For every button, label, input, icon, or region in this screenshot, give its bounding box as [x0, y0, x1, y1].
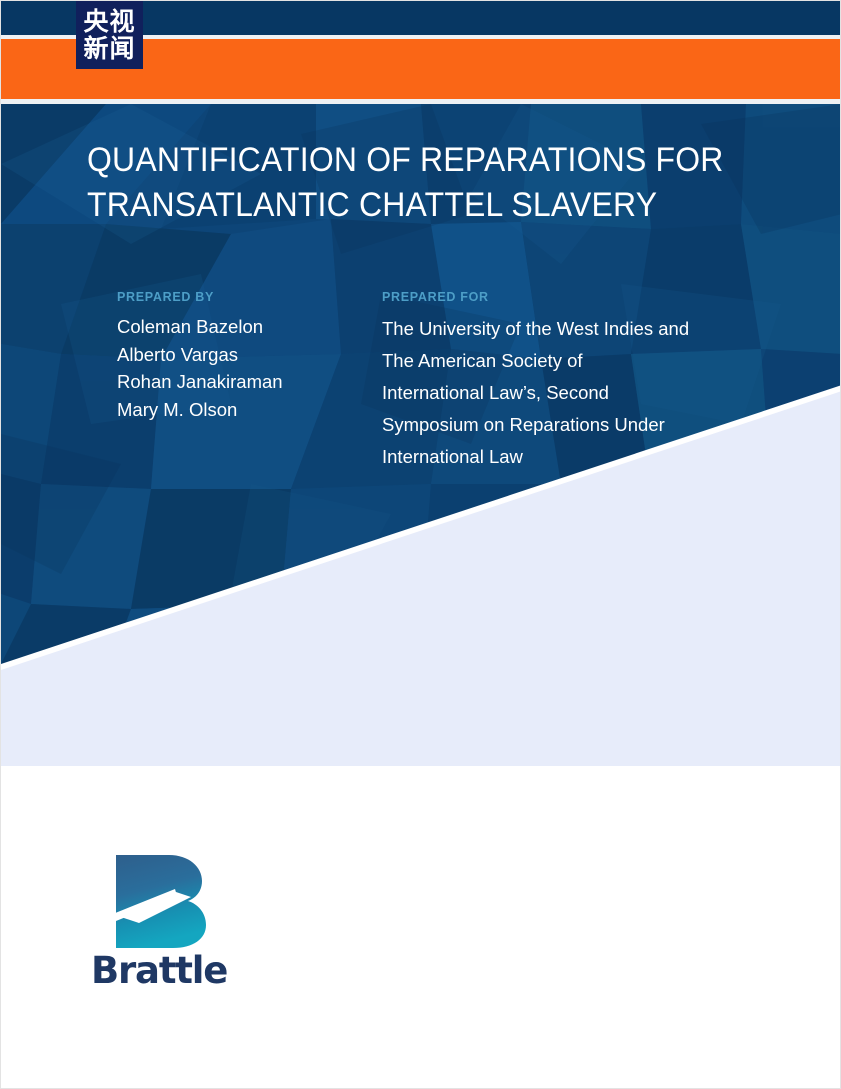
brattle-wordmark-text: Brattle — [91, 949, 227, 992]
banner-rule-lower — [1, 99, 841, 104]
page-title: QUANTIFICATION OF REPARATIONS FOR TRANSA… — [87, 138, 745, 228]
cctv-logo-line-2: 新闻 — [83, 36, 135, 61]
brattle-b-mark-icon — [113, 853, 208, 950]
author-name: Coleman Bazelon — [117, 313, 382, 341]
recipient-line: The University of the West Indies and — [382, 313, 732, 345]
recipient-line: Symposium on Reparations Under — [382, 409, 732, 441]
prepared-by-label: PREPARED BY — [117, 290, 382, 304]
title-block: QUANTIFICATION OF REPARATIONS FOR TRANSA… — [87, 138, 787, 228]
recipient-line: The American Society of — [382, 345, 732, 377]
author-name: Mary M. Olson — [117, 396, 382, 424]
recipient-line: International Law — [382, 441, 732, 473]
prepared-for-column: PREPARED FOR The University of the West … — [382, 290, 732, 473]
cctv-news-logo: 央视 新闻 — [76, 1, 143, 69]
recipient-line: International Law’s, Second — [382, 377, 732, 409]
report-cover-page: 央视 新闻 QUANTIFICATION OF REPARATIONS FOR … — [0, 0, 841, 1089]
brattle-wordmark: Brattle — [91, 949, 231, 993]
cctv-logo-line-1: 央视 — [83, 9, 135, 34]
author-name: Alberto Vargas — [117, 341, 382, 369]
prepared-by-column: PREPARED BY Coleman Bazelon Alberto Varg… — [117, 290, 382, 473]
credits-block: PREPARED BY Coleman Bazelon Alberto Varg… — [117, 290, 797, 473]
author-name: Rohan Janakiraman — [117, 368, 382, 396]
prepared-for-label: PREPARED FOR — [382, 290, 732, 304]
brattle-logo: Brattle — [91, 853, 231, 993]
